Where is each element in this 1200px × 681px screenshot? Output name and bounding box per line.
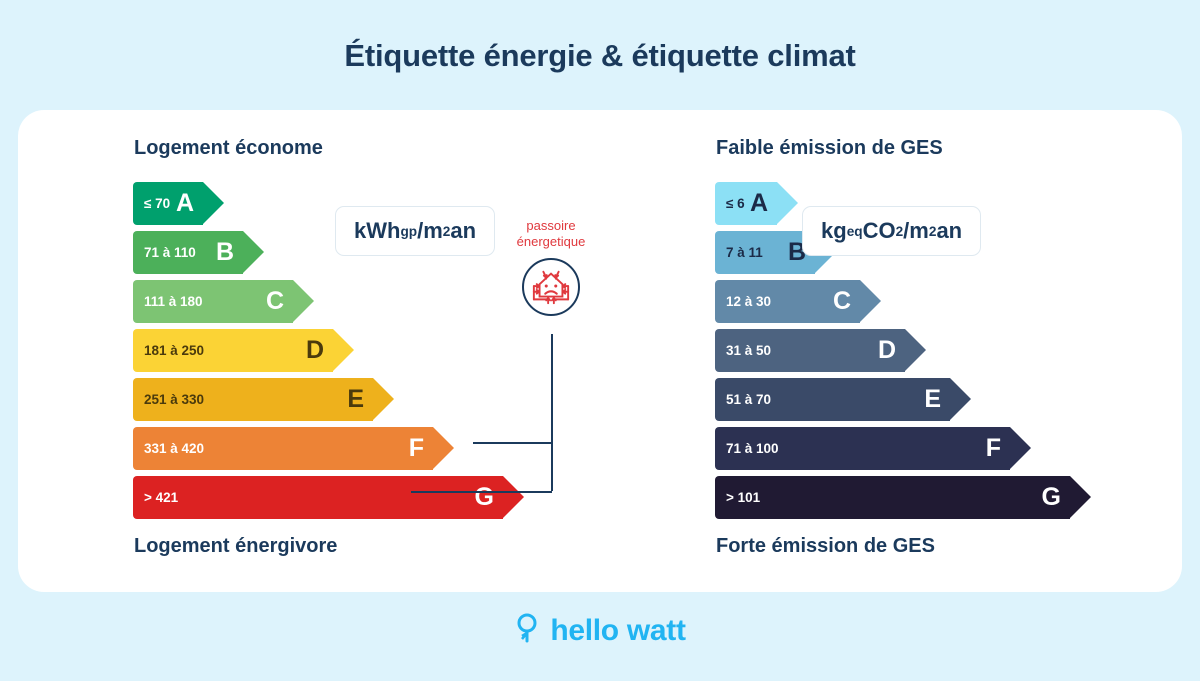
bar-row-g: > 421G <box>133 476 503 519</box>
bar-range-label: 51 à 70 <box>715 392 771 407</box>
bar-letter-a: A <box>750 191 768 216</box>
bar-letter-c: C <box>266 289 284 314</box>
bar-f: 71 à 100F <box>715 427 1010 470</box>
bar-letter-e: E <box>924 387 941 412</box>
bar-row-e: 251 à 330E <box>133 378 503 421</box>
bar-range-label: 71 à 110 <box>133 245 196 260</box>
bar-e: 251 à 330E <box>133 378 373 421</box>
panel-climate-label: Faible émission de GES ≤ 6A7 à 11B12 à 3… <box>600 110 1182 592</box>
energy-panel-heading: Logement économe <box>134 137 323 160</box>
bar-row-f: 331 à 420F <box>133 427 503 470</box>
bar-a: ≤ 70A <box>133 182 203 225</box>
bar-range-label: 31 à 50 <box>715 343 771 358</box>
panel-energy-label: Logement économe ≤ 70A71 à 110B111 à 180… <box>18 110 600 592</box>
bar-letter-f: F <box>986 436 1001 461</box>
energy-connector-horizontal-g <box>411 491 552 493</box>
page-title: Étiquette énergie & étiquette climat <box>0 0 1200 72</box>
bar-range-label: 331 à 420 <box>133 441 204 456</box>
bar-row-d: 181 à 250D <box>133 329 503 372</box>
bar-range-label: > 421 <box>133 490 178 505</box>
bar-row-d: 31 à 50D <box>715 329 1070 372</box>
climate-unit-chip: kgeqCO2/m2 an <box>802 206 981 256</box>
bar-letter-g: G <box>1042 485 1061 510</box>
energy-unit-chip: kWhgp/m2 an <box>335 206 495 256</box>
bar-d: 31 à 50D <box>715 329 905 372</box>
bar-letter-a: A <box>176 191 194 216</box>
bar-c: 111 à 180C <box>133 280 293 323</box>
bar-b: 71 à 110B <box>133 231 243 274</box>
bar-range-label: > 101 <box>715 490 760 505</box>
bar-a: ≤ 6A <box>715 182 777 225</box>
lightbulb-icon <box>514 612 540 649</box>
footer-logo[interactable]: hello watt <box>0 612 1200 649</box>
energy-connector-vertical-top <box>551 334 553 443</box>
bar-letter-e: E <box>347 387 364 412</box>
energy-panel-footing: Logement énergivore <box>134 535 337 558</box>
panels-container: Logement économe ≤ 70A71 à 110B111 à 180… <box>18 110 1182 592</box>
bar-f: 331 à 420F <box>133 427 433 470</box>
logo-wordmark: hello watt <box>550 614 685 648</box>
bar-g: > 101G <box>715 476 1070 519</box>
bar-g: > 421G <box>133 476 503 519</box>
climate-panel-footing: Forte émission de GES <box>716 535 935 558</box>
bar-range-label: 181 à 250 <box>133 343 204 358</box>
bar-range-label: 12 à 30 <box>715 294 771 309</box>
bar-range-label: 111 à 180 <box>133 294 203 309</box>
bar-letter-c: C <box>833 289 851 314</box>
bar-range-label: 251 à 330 <box>133 392 204 407</box>
bar-row-g: > 101G <box>715 476 1070 519</box>
bar-c: 12 à 30C <box>715 280 860 323</box>
bar-row-c: 12 à 30C <box>715 280 1070 323</box>
bar-row-c: 111 à 180C <box>133 280 503 323</box>
bar-letter-b: B <box>216 240 234 265</box>
bar-d: 181 à 250D <box>133 329 333 372</box>
climate-panel-heading: Faible émission de GES <box>716 137 943 160</box>
bar-range-label: 71 à 100 <box>715 441 779 456</box>
bar-e: 51 à 70E <box>715 378 950 421</box>
bar-range-label: ≤ 70 <box>133 196 170 211</box>
bar-letter-d: D <box>306 338 324 363</box>
sad-house-icon <box>522 258 580 316</box>
bar-range-label: 7 à 11 <box>715 245 763 260</box>
bar-b: 7 à 11B <box>715 231 815 274</box>
bar-letter-d: D <box>878 338 896 363</box>
content-card: Logement économe ≤ 70A71 à 110B111 à 180… <box>18 110 1182 592</box>
bar-row-f: 71 à 100F <box>715 427 1070 470</box>
bar-letter-g: G <box>475 485 494 510</box>
energy-connector-vertical-bottom <box>551 442 553 491</box>
bar-row-e: 51 à 70E <box>715 378 1070 421</box>
bar-range-label: ≤ 6 <box>715 196 745 211</box>
energy-connector-horizontal-f <box>473 442 552 444</box>
bar-letter-f: F <box>409 436 424 461</box>
